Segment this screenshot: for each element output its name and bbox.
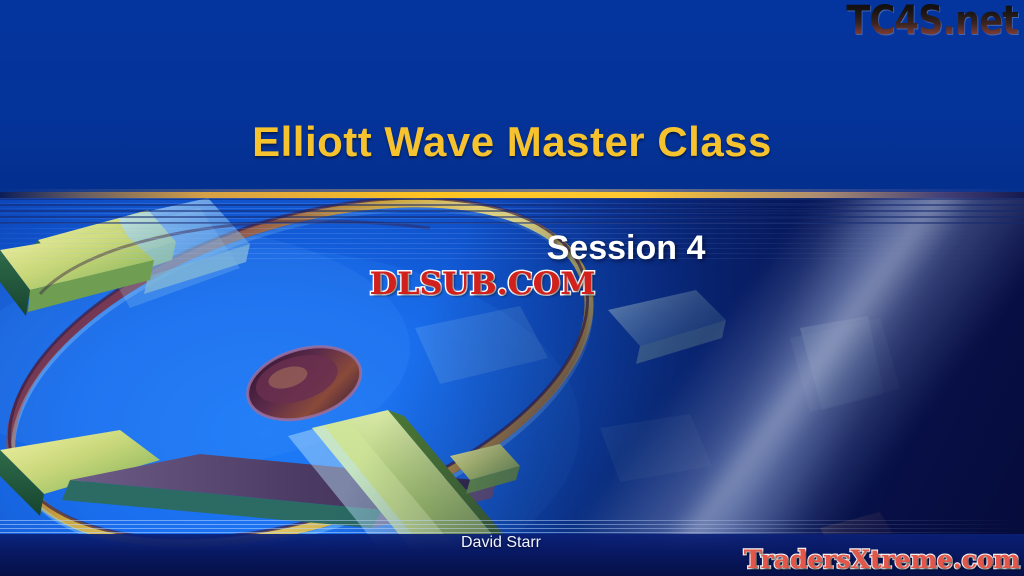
tradersxtreme-logo-fill: TradersXtreme.com [744, 547, 1020, 572]
page-title: Elliott Wave Master Class [0, 118, 1024, 166]
presentation-slide: Elliott Wave Master Class [0, 0, 1024, 576]
session-label: Session 4 [0, 229, 1024, 268]
tradersxtreme-logo: TradersXtreme.com TradersXtreme.com [744, 547, 1020, 572]
dlsub-watermark-fill: DLSUB.COM [370, 266, 596, 302]
tc4s-watermark: TC4S.net [846, 0, 1018, 44]
